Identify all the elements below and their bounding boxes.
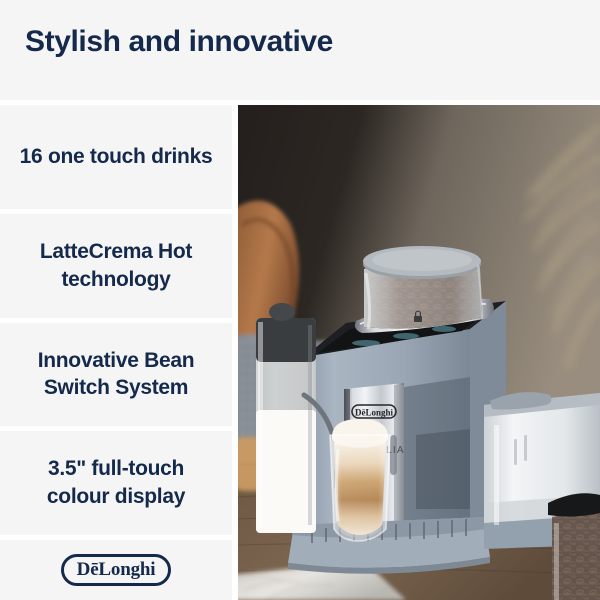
tank-highlight bbox=[494, 425, 499, 525]
brand-footer: DēLonghi bbox=[0, 540, 232, 600]
feature-card-lattecrema: LatteCrema Hot technology bbox=[0, 214, 232, 318]
product-photo: DēLonghi RIVELIA bbox=[238, 105, 600, 600]
carafe-knob[interactable] bbox=[269, 303, 295, 321]
feature-list: 16 one touch drinks LatteCrema Hot techn… bbox=[0, 105, 232, 535]
carafe-highlight bbox=[258, 322, 263, 528]
machine-brand-text: DēLonghi bbox=[355, 408, 394, 418]
delonghi-logo-text: DēLonghi bbox=[77, 560, 156, 579]
product-photo-illustration: DēLonghi RIVELIA bbox=[238, 105, 600, 600]
machine-panel-seam bbox=[416, 429, 470, 509]
drip-tray[interactable] bbox=[288, 517, 490, 574]
page-title: Stylish and innovative bbox=[25, 22, 333, 62]
machine-brand-badge: DēLonghi bbox=[352, 405, 396, 418]
feature-card-drinks: 16 one touch drinks bbox=[0, 105, 232, 209]
feature-label: LatteCrema Hot technology bbox=[14, 238, 218, 293]
header-band: Stylish and innovative bbox=[0, 0, 600, 100]
bean-hopper[interactable] bbox=[363, 246, 482, 329]
latte-glass bbox=[330, 419, 390, 541]
feature-label: 16 one touch drinks bbox=[20, 143, 213, 171]
jar-highlight bbox=[554, 523, 559, 600]
bean-dispenser-jar bbox=[548, 493, 600, 600]
feature-card-bean-switch: Innovative Bean Switch System bbox=[0, 323, 232, 427]
delonghi-logo: DēLonghi bbox=[61, 554, 172, 586]
feature-card-display: 3.5" full-touch colour display bbox=[0, 431, 232, 535]
feature-label: Innovative Bean Switch System bbox=[14, 347, 218, 402]
product-feature-panel: Stylish and innovative 16 one touch drin… bbox=[0, 0, 600, 600]
feature-label: 3.5" full-touch colour display bbox=[14, 455, 218, 510]
